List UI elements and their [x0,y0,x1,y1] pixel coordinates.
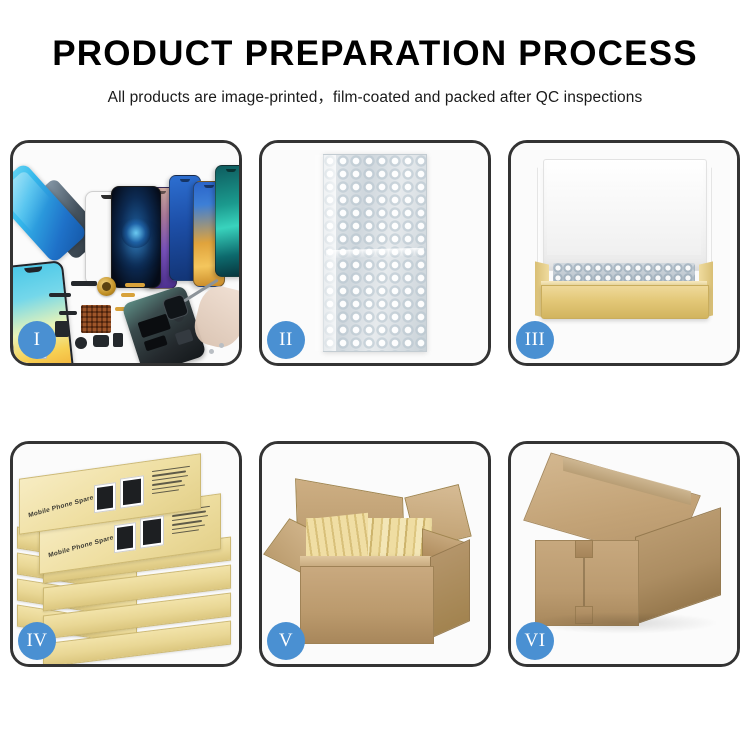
carton-front-panel [300,566,434,644]
bubble-wrap-pouch [323,154,427,352]
step-badge-5: V [267,622,305,660]
carton-tab-upper [575,540,593,558]
phone-teal [215,165,239,277]
step-badge-3: III [516,321,554,359]
part-screw-2 [219,343,224,348]
process-step-4[interactable]: Mobile Phone Spare Parts Mobile Phone Sp… [10,441,242,667]
process-step-5[interactable]: V [259,441,491,667]
part-mesh-grid [81,305,111,333]
part-connector-2 [55,321,69,337]
box-screen-img-3 [114,522,136,553]
kraft-box-front [541,285,709,319]
page-title: PRODUCT PREPARATION PROCESS [0,36,750,71]
step-badge-6: VI [516,622,554,660]
step-badge-4: IV [18,622,56,660]
step-badge-1: I [18,321,56,359]
process-step-2[interactable]: II [259,140,491,366]
carton-shadow [529,612,719,634]
part-camera-module [93,335,109,347]
step-badge-2: II [267,321,305,359]
process-step-3[interactable]: III [508,140,740,366]
part-copper-coil [97,277,116,296]
part-earpiece-mesh [71,281,97,286]
box-screen-img-1 [94,482,116,513]
page-header: PRODUCT PREPARATION PROCESS All products… [0,0,750,107]
part-screw-1 [209,349,214,354]
page-subtitle: All products are image-printed，film-coat… [0,85,750,107]
part-button-round [75,337,87,349]
part-flex-cable-2 [121,293,135,297]
part-connector-1 [59,311,77,315]
part-antenna [49,293,71,297]
process-step-6[interactable]: VI [508,441,740,667]
box-screen-img-4 [140,515,164,548]
process-step-1[interactable]: I [10,140,242,366]
phone-dark-display [111,186,161,288]
pouch-highlight [310,155,336,351]
box-screen-img-2 [120,475,144,508]
wallpaper-glow [121,218,151,248]
process-grid: I II III [10,140,740,676]
part-flex-cable-1 [125,283,145,287]
part-speaker [113,333,123,347]
foam-liner [547,187,701,255]
box-spec-lines-1 [152,465,192,497]
carton-side-panel [430,539,470,639]
